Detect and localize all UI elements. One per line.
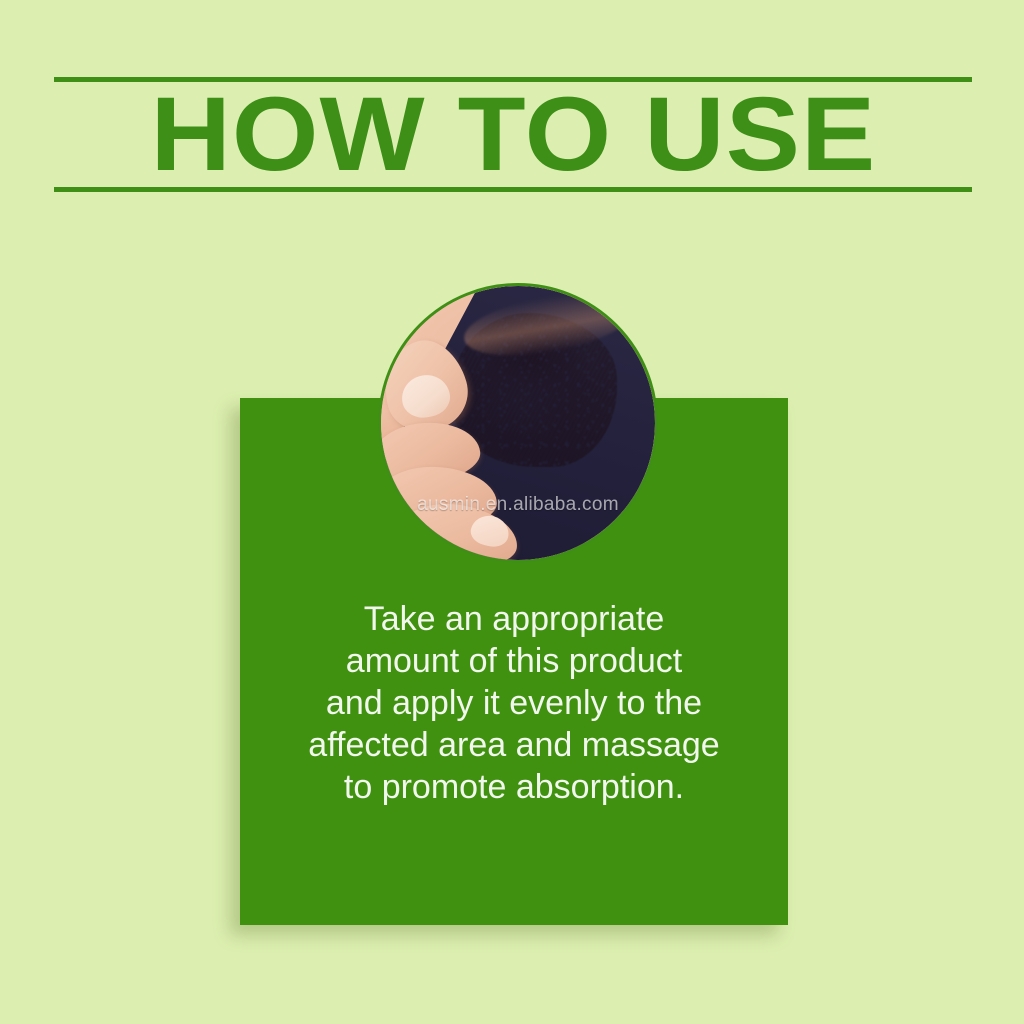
how-to-use-poster: HOW TO USE Take an appropriate amount of… bbox=[0, 0, 1024, 1024]
page-title: HOW TO USE bbox=[150, 82, 876, 187]
instruction-text: Take an appropriate amount of this produ… bbox=[240, 598, 788, 808]
skin-condition-photo: ausmin.en.alibaba.com bbox=[378, 283, 658, 563]
thumbnail-icon bbox=[398, 372, 452, 421]
watermark-text: ausmin.en.alibaba.com bbox=[381, 494, 655, 516]
photo-inner: ausmin.en.alibaba.com bbox=[381, 286, 655, 560]
header-banner: HOW TO USE bbox=[54, 77, 972, 192]
